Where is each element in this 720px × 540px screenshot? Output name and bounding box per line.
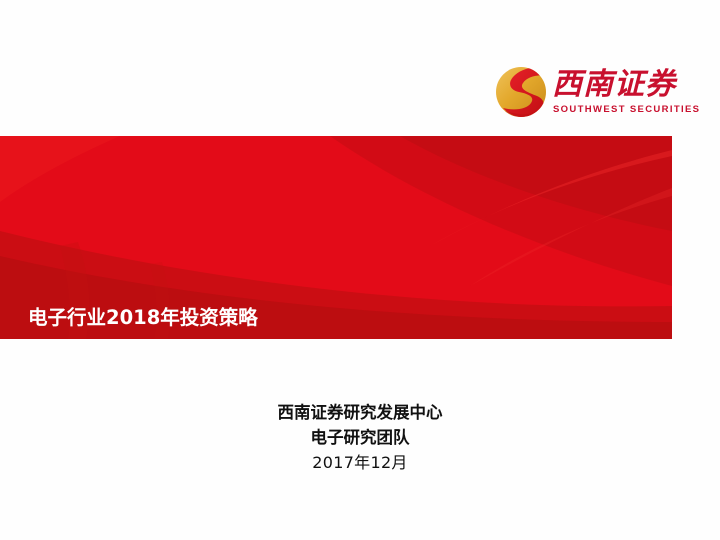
footer-date: 2017年12月 <box>0 450 720 475</box>
slide-footer: 西南证券研究发展中心 电子研究团队 2017年12月 <box>0 400 720 475</box>
footer-team: 电子研究团队 <box>0 425 720 450</box>
company-logo: 西南证券 SOUTHWEST SECURITIES <box>495 66 695 124</box>
logo-company-name-en: SOUTHWEST SECURITIES <box>553 104 700 115</box>
slide-subtitle: 电子行业2018年投资策略 <box>28 301 258 330</box>
logo-wordmark: 西南证券 SOUTHWEST SECURITIES <box>552 67 694 123</box>
footer-organization: 西南证券研究发展中心 <box>0 400 720 425</box>
swirl-logo-icon <box>495 66 547 118</box>
title-slide: 西南证券 SOUTHWEST SECURITIES 电子行业2018年投资策略 … <box>0 0 720 540</box>
logo-company-name-cn-text: 西南证券 <box>552 67 694 103</box>
title-banner: 电子行业2018年投资策略 成就大国崛起，畅享行业成长 <box>0 136 672 339</box>
logo-company-name-cn: 西南证券 <box>552 67 694 103</box>
